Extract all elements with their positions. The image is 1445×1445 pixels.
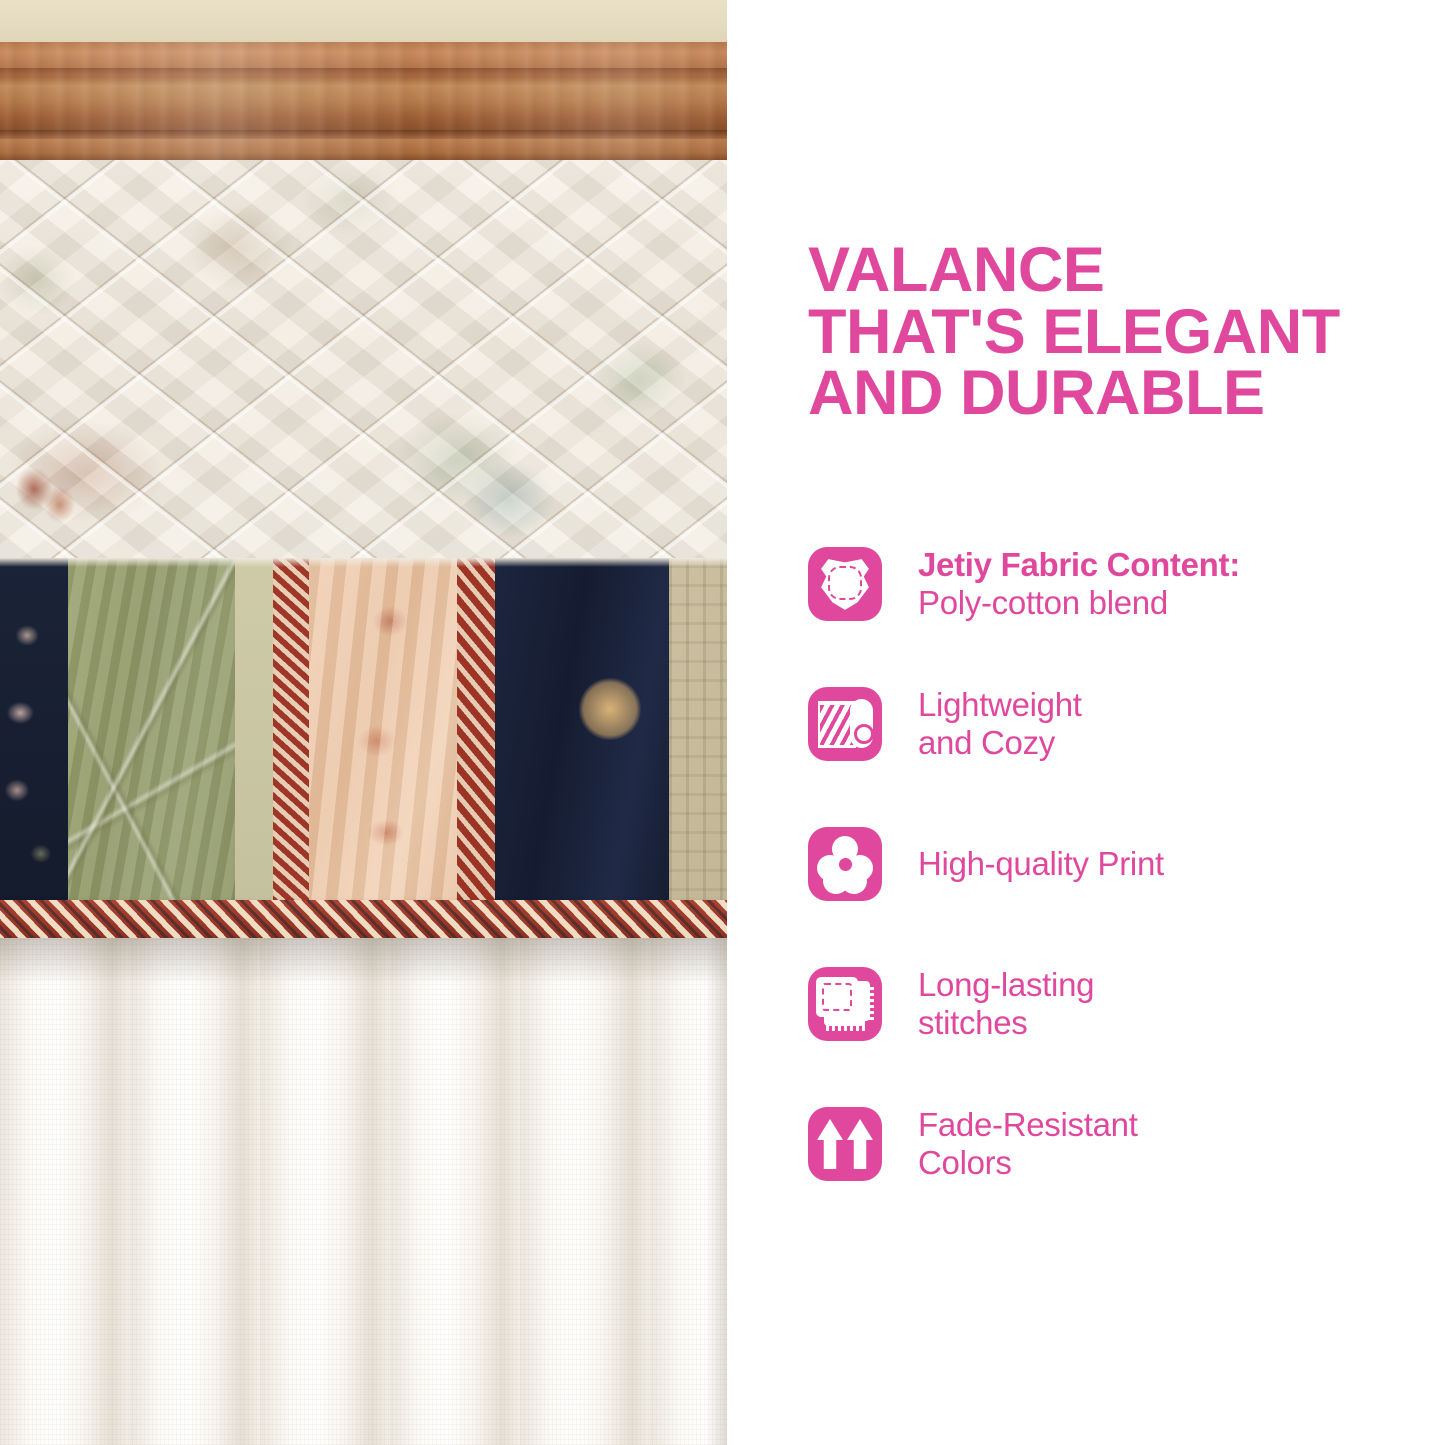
patch-strip-navy-gold-leaf [495, 558, 669, 910]
butterfly-print-motif [10, 460, 90, 532]
feature-item-stitches: Long-lasting stitches [808, 956, 1428, 1052]
feature-line-fade-resistant-1: Fade-Resistant [918, 1106, 1138, 1144]
patch-strip-tan-plaid [669, 558, 727, 910]
feature-line-fade-resistant-2: Colors [918, 1144, 1138, 1182]
feature-line-lightweight-1: Lightweight [918, 686, 1082, 724]
stitch-dashed-outline [822, 983, 852, 1011]
feature-line-lightweight-2: and Cozy [918, 724, 1082, 762]
product-photo [0, 0, 727, 1445]
curtain-right-edge-shadow [705, 938, 727, 1445]
fabric-roll-icon [808, 687, 882, 761]
product-feature-card: VALANCE THAT'S ELEGANT AND DURABLE Jetiy… [0, 0, 1445, 1445]
wood-sheen-highlight [0, 42, 727, 162]
info-panel: VALANCE THAT'S ELEGANT AND DURABLE Jetiy… [727, 0, 1445, 1445]
roll-tube [850, 699, 873, 748]
hide-stitch-outline [828, 566, 862, 600]
sheer-curtain-region [0, 938, 727, 1445]
up-arrow-right [847, 1119, 873, 1169]
feature-text-stitches: Long-lasting stitches [918, 966, 1094, 1041]
headline-line-3: AND DURABLE [808, 363, 1408, 425]
feature-item-fabric-content: Jetiy Fabric Content: Poly-cotton blend [808, 536, 1428, 632]
patchwork-band [0, 558, 727, 910]
rust-floral-binding [0, 900, 727, 942]
feature-item-print-quality: High-quality Print [808, 816, 1428, 912]
page-title: VALANCE THAT'S ELEGANT AND DURABLE [808, 240, 1408, 425]
quilt-diamond-stitching [0, 160, 727, 560]
feature-item-lightweight: Lightweight and Cozy [808, 676, 1428, 772]
feature-text-print-quality: High-quality Print [918, 845, 1164, 883]
patch-strip-sage-green [68, 558, 235, 910]
flower-center-dot [839, 858, 852, 871]
leather-hide-icon [808, 547, 882, 621]
patchwork-top-seam [0, 558, 727, 567]
patch-strip-navy-floral [0, 558, 68, 910]
feature-line-stitches-2: stitches [918, 1004, 1094, 1042]
double-up-arrow-icon [808, 1107, 882, 1181]
curtain-weave-texture [0, 938, 727, 1445]
patch-strip-rust-floral-left [273, 558, 309, 910]
flower-icon [808, 827, 882, 901]
feature-value-fabric-content: Poly-cotton blend [918, 584, 1240, 622]
quilted-valance-panel [0, 160, 727, 560]
wall-region [0, 0, 727, 44]
feature-line-stitches-1: Long-lasting [918, 966, 1094, 1004]
feature-text-fabric-content: Jetiy Fabric Content: Poly-cotton blend [918, 546, 1240, 621]
feature-item-fade-resistant: Fade-Resistant Colors [808, 1096, 1428, 1192]
roll-zigzag-pattern [820, 705, 854, 745]
stitched-layers-icon [808, 967, 882, 1041]
headline-line-2: THAT'S ELEGANT [808, 302, 1408, 364]
patch-strip-rust-floral-right [457, 558, 495, 910]
feature-list: Jetiy Fabric Content: Poly-cotton blend … [808, 536, 1428, 1192]
feature-line-print-quality-1: High-quality Print [918, 845, 1164, 883]
feature-title-fabric-content: Jetiy Fabric Content: [918, 546, 1240, 584]
feature-text-fade-resistant: Fade-Resistant Colors [918, 1106, 1138, 1181]
patch-strip-cream [235, 558, 273, 910]
feature-text-lightweight: Lightweight and Cozy [918, 686, 1082, 761]
up-arrow-left [817, 1119, 843, 1169]
headline-line-1: VALANCE [808, 240, 1408, 302]
patch-strip-peach-floral [309, 558, 457, 910]
wood-cornice-region [0, 42, 727, 162]
curtain-top-shadow [0, 938, 727, 984]
